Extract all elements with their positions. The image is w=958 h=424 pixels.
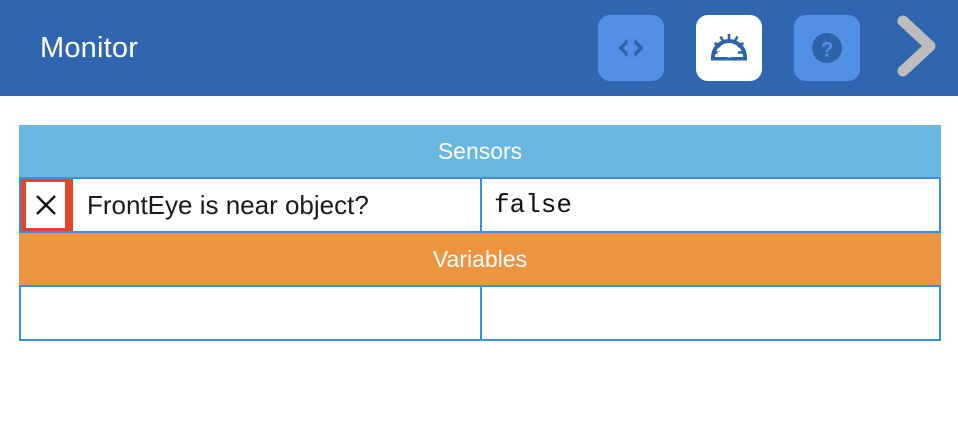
variable-name-cell [21,287,482,339]
gauge-icon [707,26,751,70]
next-page-button[interactable] [888,15,942,81]
svg-text:?: ? [821,39,834,62]
sensor-value-text: false [494,190,572,220]
variable-value-cell [482,287,939,339]
code-icon [611,28,651,68]
section-header-sensors: Sensors [19,125,941,177]
section-header-variables: Variables [19,233,941,285]
remove-sensor-button[interactable] [21,179,73,231]
monitor-table: Sensors FrontEye is near object? false [19,125,941,341]
code-view-button[interactable] [598,15,664,81]
close-icon [33,192,59,218]
app-header: Monitor [0,0,958,96]
table-row[interactable] [19,285,941,341]
monitor-view-button[interactable] [696,15,762,81]
chevron-right-icon [892,15,938,82]
question-mark-icon: ? [806,27,848,69]
table-row[interactable]: FrontEye is near object? false [19,177,941,233]
header-toolbar: ? [598,0,958,96]
sensor-name-cell: FrontEye is near object? [21,179,482,231]
page-title: Monitor [40,0,138,96]
sensor-value-cell: false [482,179,939,231]
help-button[interactable]: ? [794,15,860,81]
monitor-content: Sensors FrontEye is near object? false [0,96,958,424]
sensor-name-label: FrontEye is near object? [87,190,369,221]
